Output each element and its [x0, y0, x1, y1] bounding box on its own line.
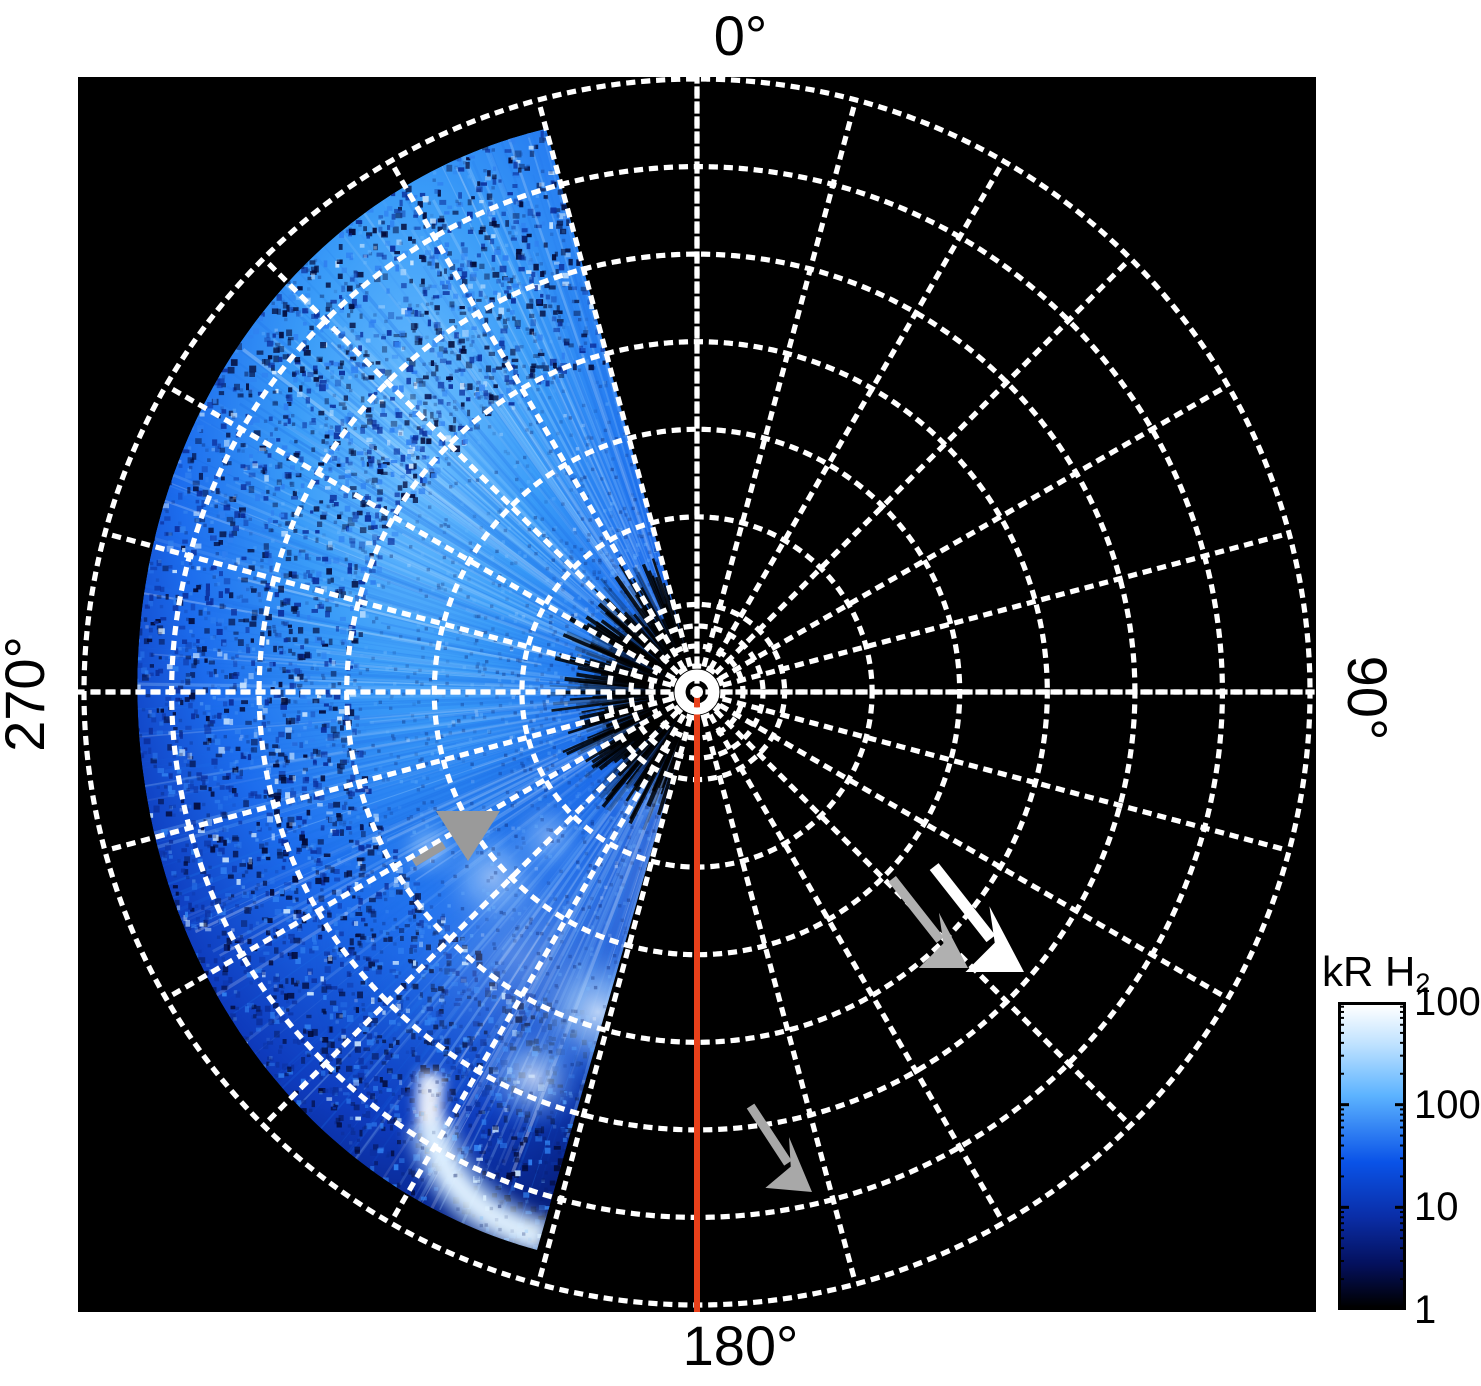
- colorbar-tick-label-1000: 1000: [1414, 982, 1481, 1022]
- polar-axis-label-top: 0°: [0, 8, 1481, 64]
- colorbar: kR H2 1000100101: [1322, 948, 1481, 1328]
- polar-axis-label-right: 90°: [1339, 618, 1395, 778]
- colorbar-tick-label-10: 10: [1414, 1187, 1459, 1227]
- colorbar-title-text: kR H: [1322, 948, 1415, 995]
- auroral-polar-projection-figure: 0° 180° 270° 90°: [0, 0, 1481, 1386]
- polar-plot-canvas: [78, 77, 1316, 1312]
- colorbar-tick-label-100: 100: [1414, 1085, 1481, 1125]
- colorbar-scale: 1000100101: [1338, 1002, 1406, 1310]
- polar-plot-panel: [78, 77, 1316, 1312]
- colorbar-tick-label-1: 1: [1414, 1290, 1436, 1330]
- polar-axis-label-left: 270°: [0, 614, 53, 774]
- polar-axis-label-bottom: 180°: [0, 1318, 1481, 1374]
- colorbar-gradient: [1338, 1002, 1406, 1310]
